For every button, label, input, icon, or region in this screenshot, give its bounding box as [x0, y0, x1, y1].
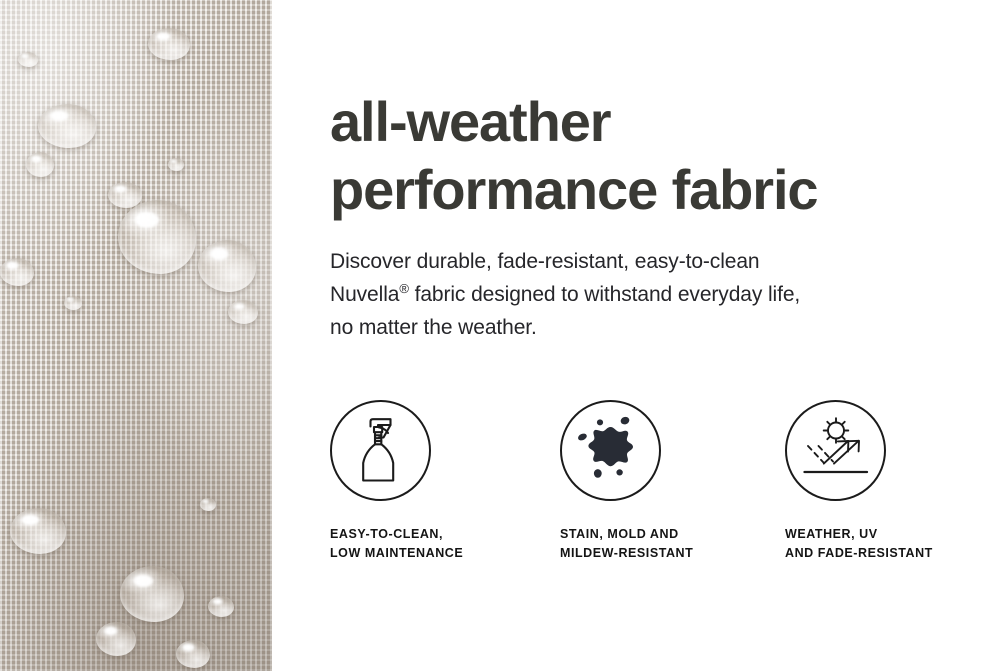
water-droplet [18, 52, 38, 67]
water-droplet [176, 640, 210, 668]
feature-item-weather-uv-resistant: WEATHER, UV AND FADE-RESISTANT [785, 400, 1000, 563]
feature-label: WEATHER, UV AND FADE-RESISTANT [785, 525, 1000, 563]
description-line-1: Discover durable, fade-resistant, easy-t… [330, 245, 800, 278]
page-title: all-weather performance fabric [330, 88, 817, 224]
water-droplet [200, 498, 216, 511]
feature-label: STAIN, MOLD AND MILDEW-RESISTANT [560, 525, 775, 563]
water-droplet [120, 566, 184, 622]
feature-label-line-1: WEATHER, UV [785, 525, 1000, 544]
spray-bottle-icon [330, 400, 431, 501]
feature-label-line-2: AND FADE-RESISTANT [785, 544, 1000, 563]
headline-line-2: performance fabric [330, 156, 817, 224]
water-droplet [96, 622, 136, 656]
feature-label-line-2: MILDEW-RESISTANT [560, 544, 775, 563]
headline-line-1: all-weather [330, 88, 817, 156]
water-droplet [148, 28, 190, 60]
water-droplet [198, 240, 256, 292]
water-droplet [38, 104, 96, 148]
description-line-2-rest: fabric designed to withstand everyday li… [409, 283, 800, 306]
water-droplet [26, 152, 54, 177]
sun-uv-reflect-icon [785, 400, 886, 501]
description-line-3: no matter the weather. [330, 311, 800, 344]
stain-splat-icon [560, 400, 661, 501]
registered-trademark-icon: ® [399, 281, 409, 296]
fabric-photo [0, 0, 272, 671]
water-droplet [208, 596, 234, 617]
description-line-2: Nuvella® fabric designed to withstand ev… [330, 278, 800, 311]
water-droplet [10, 508, 66, 554]
feature-item-stain-resistant: STAIN, MOLD AND MILDEW-RESISTANT [560, 400, 775, 563]
water-droplet [168, 158, 184, 171]
water-droplet [0, 258, 34, 286]
description-text: Discover durable, fade-resistant, easy-t… [330, 245, 800, 344]
feature-item-easy-to-clean: EASY-TO-CLEAN, LOW MAINTENANCE [330, 400, 545, 563]
promo-banner: all-weather performance fabric Discover … [0, 0, 1005, 671]
feature-label-line-1: EASY-TO-CLEAN, [330, 525, 545, 544]
water-droplet [108, 182, 142, 208]
water-droplet [228, 300, 258, 324]
feature-label-line-1: STAIN, MOLD AND [560, 525, 775, 544]
content-area: all-weather performance fabric Discover … [272, 0, 1005, 671]
brand-name: Nuvella [330, 283, 399, 306]
water-droplet [64, 296, 82, 310]
water-droplet [118, 200, 196, 274]
feature-label-line-2: LOW MAINTENANCE [330, 544, 545, 563]
feature-label: EASY-TO-CLEAN, LOW MAINTENANCE [330, 525, 545, 563]
